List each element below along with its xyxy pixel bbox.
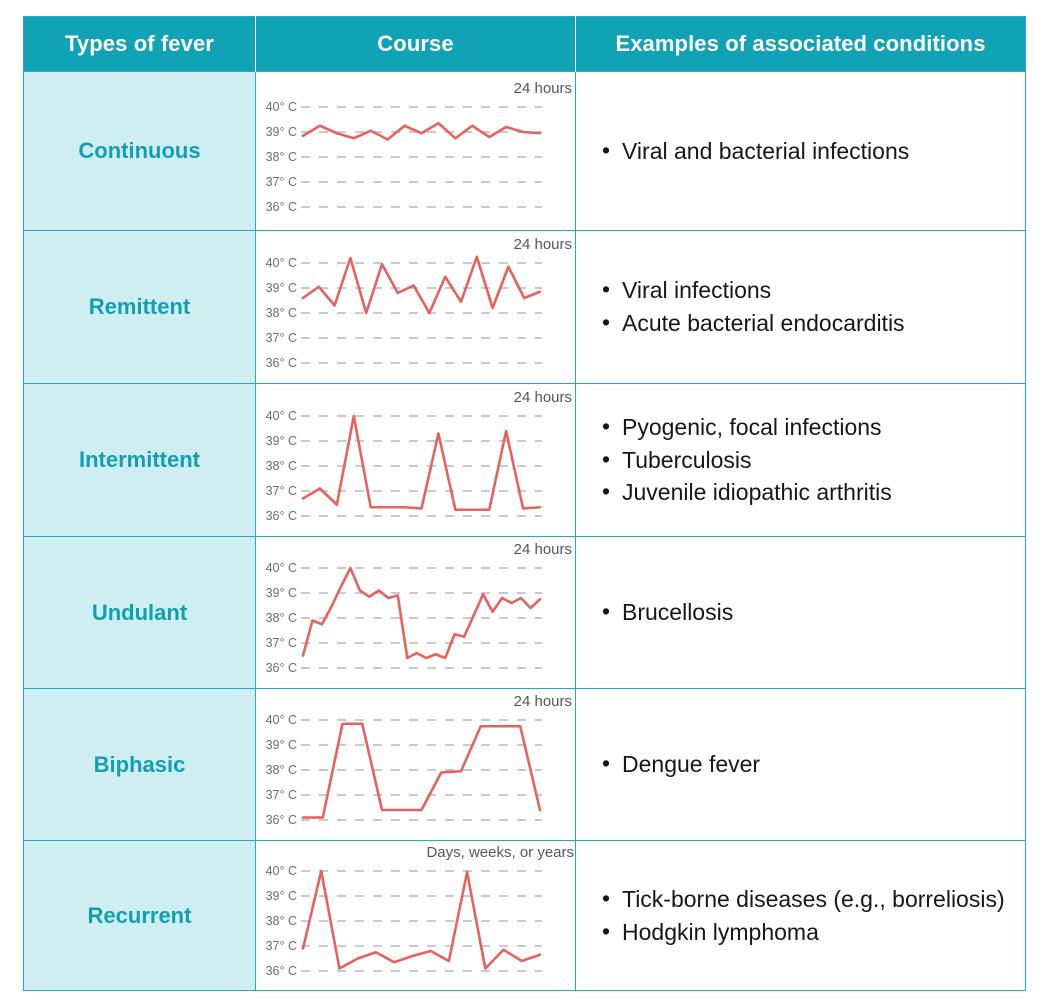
list-item: Pyogenic, focal infections (602, 411, 1025, 444)
table-row: Remittent 40° C (24, 231, 1026, 384)
course-chart-cell: 40° C 39° C 38° C 37° C 36° C Days, week… (256, 841, 576, 991)
list-item: Hodgkin lymphoma (602, 916, 1025, 949)
chart-svg: 40° C 39° C 38° C 37° C 36° C 24 hours (256, 388, 576, 533)
ytick-37: 37° C (266, 175, 297, 189)
ytick-36: 36° C (266, 509, 297, 523)
time-axis-label: 24 hours (514, 236, 572, 253)
y-axis-tick-labels: 40° C 39° C 38° C 37° C 36° C (266, 100, 297, 214)
ytick-39: 39° C (266, 889, 297, 903)
examples-list: Tick-borne diseases (e.g., borreliosis) … (602, 883, 1025, 948)
fever-course-line (303, 568, 540, 658)
time-axis-label: 24 hours (514, 693, 572, 710)
fever-types-table: Types of fever Course Examples of associ… (23, 16, 1026, 991)
chart-svg: 40° C 39° C 38° C 37° C 36° C 24 hours (256, 235, 576, 380)
fever-course-chart: 40° C 39° C 38° C 37° C 36° C 24 hours (256, 692, 576, 837)
table-row: Continuous 40° C (24, 72, 1026, 231)
course-chart-cell: 40° C 39° C 38° C 37° C 36° C 24 hours (256, 72, 576, 231)
fever-course-chart: 40° C 39° C 38° C 37° C 36° C 24 hours (256, 79, 576, 224)
fever-course-chart: 40° C 39° C 38° C 37° C 36° C 24 hours (256, 540, 576, 685)
ytick-40: 40° C (266, 100, 297, 114)
list-item: Viral infections (602, 274, 1025, 307)
ytick-39: 39° C (266, 434, 297, 448)
fever-course-chart: 40° C 39° C 38° C 37° C 36° C 24 hours (256, 388, 576, 533)
ytick-36: 36° C (266, 661, 297, 675)
fever-course-line (303, 256, 540, 312)
chart-svg: 40° C 39° C 38° C 37° C 36° C 24 hours (256, 79, 576, 224)
table-row: Recurrent 40° C (24, 841, 1026, 991)
ytick-37: 37° C (266, 788, 297, 802)
ytick-38: 38° C (266, 914, 297, 928)
ytick-38: 38° C (266, 459, 297, 473)
fever-type-label: Continuous (24, 72, 256, 231)
y-axis-tick-labels: 40° C 39° C 38° C 37° C 36° C (266, 713, 297, 827)
ytick-37: 37° C (266, 636, 297, 650)
fever-course-chart: 40° C 39° C 38° C 37° C 36° C 24 hours (256, 235, 576, 380)
table-row: Biphasic 40° C (24, 689, 1026, 841)
header-examples: Examples of associated conditions (576, 17, 1026, 72)
examples-cell: Tick-borne diseases (e.g., borreliosis) … (576, 841, 1026, 991)
list-item: Juvenile idiopathic arthritis (602, 476, 1025, 509)
fever-type-label: Undulant (24, 537, 256, 689)
y-axis-tick-labels: 40° C 39° C 38° C 37° C 36° C (266, 256, 297, 370)
examples-list: Viral and bacterial infections (602, 135, 1025, 168)
list-item: Tick-borne diseases (e.g., borreliosis) (602, 883, 1025, 916)
ytick-39: 39° C (266, 281, 297, 295)
examples-list: Brucellosis (602, 596, 1025, 629)
header-course: Course (256, 17, 576, 72)
course-chart-cell: 40° C 39° C 38° C 37° C 36° C 24 hours (256, 537, 576, 689)
ytick-36: 36° C (266, 813, 297, 827)
ytick-36: 36° C (266, 356, 297, 370)
table-row: Intermittent 40° C (24, 384, 1026, 537)
examples-cell: Pyogenic, focal infections Tuberculosis … (576, 384, 1026, 537)
ytick-38: 38° C (266, 611, 297, 625)
chart-svg: 40° C 39° C 38° C 37° C 36° C Days, week… (256, 843, 576, 988)
list-item: Viral and bacterial infections (602, 135, 1025, 168)
examples-cell: Brucellosis (576, 537, 1026, 689)
examples-list: Pyogenic, focal infections Tuberculosis … (602, 411, 1025, 509)
y-axis-tick-labels: 40° C 39° C 38° C 37° C 36° C (266, 409, 297, 523)
time-axis-label: 24 hours (514, 541, 572, 558)
fever-type-label: Recurrent (24, 841, 256, 991)
ytick-38: 38° C (266, 150, 297, 164)
ytick-40: 40° C (266, 864, 297, 878)
ytick-40: 40° C (266, 409, 297, 423)
list-item: Tuberculosis (602, 444, 1025, 477)
examples-cell: Viral and bacterial infections (576, 72, 1026, 231)
ytick-38: 38° C (266, 763, 297, 777)
gridlines (301, 720, 542, 820)
ytick-40: 40° C (266, 713, 297, 727)
time-axis-label: 24 hours (514, 389, 572, 406)
course-chart-cell: 40° C 39° C 38° C 37° C 36° C 24 hours (256, 384, 576, 537)
time-axis-label: Days, weeks, or years (426, 844, 574, 861)
fever-type-label: Remittent (24, 231, 256, 384)
examples-cell: Viral infections Acute bacterial endocar… (576, 231, 1026, 384)
gridlines (301, 107, 542, 207)
header-row: Types of fever Course Examples of associ… (24, 17, 1026, 72)
chart-svg: 40° C 39° C 38° C 37° C 36° C 24 hours (256, 540, 576, 685)
y-axis-tick-labels: 40° C 39° C 38° C 37° C 36° C (266, 561, 297, 675)
examples-cell: Dengue fever (576, 689, 1026, 841)
gridlines (301, 263, 542, 363)
ytick-38: 38° C (266, 306, 297, 320)
table-body: Continuous 40° C (24, 72, 1026, 991)
fever-course-line (303, 871, 540, 969)
fever-type-label: Intermittent (24, 384, 256, 537)
fever-course-chart: 40° C 39° C 38° C 37° C 36° C Days, week… (256, 843, 576, 988)
ytick-37: 37° C (266, 484, 297, 498)
ytick-39: 39° C (266, 586, 297, 600)
table-row: Undulant 40° C (24, 537, 1026, 689)
table-header: Types of fever Course Examples of associ… (24, 17, 1026, 72)
examples-list: Dengue fever (602, 748, 1025, 781)
course-chart-cell: 40° C 39° C 38° C 37° C 36° C 24 hours (256, 231, 576, 384)
ytick-40: 40° C (266, 561, 297, 575)
course-chart-cell: 40° C 39° C 38° C 37° C 36° C 24 hours (256, 689, 576, 841)
chart-svg: 40° C 39° C 38° C 37° C 36° C 24 hours (256, 692, 576, 837)
ytick-40: 40° C (266, 256, 297, 270)
header-types-of-fever: Types of fever (24, 17, 256, 72)
ytick-36: 36° C (266, 200, 297, 214)
ytick-36: 36° C (266, 964, 297, 978)
ytick-37: 37° C (266, 939, 297, 953)
fever-course-line (303, 416, 540, 510)
fever-type-label: Biphasic (24, 689, 256, 841)
examples-list: Viral infections Acute bacterial endocar… (602, 274, 1025, 339)
fever-types-table-page: Types of fever Course Examples of associ… (0, 0, 1049, 999)
gridlines (301, 568, 542, 668)
list-item: Brucellosis (602, 596, 1025, 629)
list-item: Dengue fever (602, 748, 1025, 781)
time-axis-label: 24 hours (514, 80, 572, 97)
ytick-39: 39° C (266, 738, 297, 752)
ytick-37: 37° C (266, 331, 297, 345)
y-axis-tick-labels: 40° C 39° C 38° C 37° C 36° C (266, 864, 297, 978)
list-item: Acute bacterial endocarditis (602, 307, 1025, 340)
ytick-39: 39° C (266, 125, 297, 139)
